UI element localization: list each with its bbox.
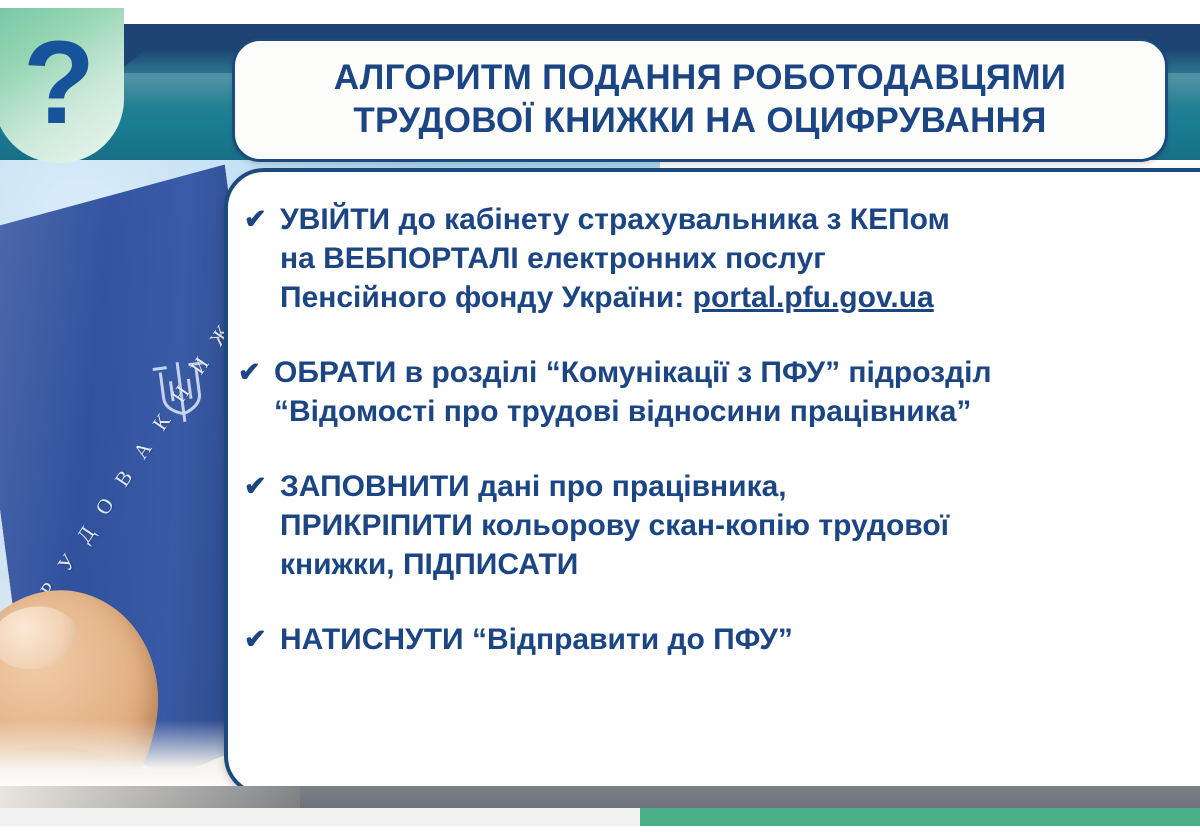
header-band-arrow [120,24,178,70]
question-mark-icon: ? [23,24,95,142]
page-title: АЛГОРИТМ ПОДАННЯ РОБОТОДАВЦЯМИ ТРУДОВОЇ … [334,57,1066,142]
check-icon: ✔ [244,622,267,657]
footer-white-base [0,826,1200,840]
footer-grey-bar-left [0,786,300,808]
infographic-canvas: Т Р У Д О В А К Н И Ж К А ? АЛГОРИТМ ПОД… [0,0,1200,840]
check-icon: ✔ [238,355,261,390]
step-text: ОБРАТИ в розділі “Комунікації з ПФУ” під… [274,353,1200,431]
check-icon: ✔ [244,202,267,237]
portal-link[interactable]: portal.pfu.gov.ua [693,281,934,314]
list-item: ✔ ЗАПОВНИТИ дані про працівника, ПРИКРІП… [240,467,1200,584]
check-icon: ✔ [244,469,267,504]
list-item: ✔ НАТИСНУТИ “Відправити до ПФУ” [240,620,1200,659]
step-text: НАТИСНУТИ “Відправити до ПФУ” [280,620,1200,659]
step-text: УВІЙТИ до кабінету страхувальника з КЕПо… [280,200,1200,317]
question-badge: ? [0,8,124,163]
steps-list: ✔ УВІЙТИ до кабінету страхувальника з КЕ… [240,200,1200,695]
list-item: ✔ УВІЙТИ до кабінету страхувальника з КЕ… [240,200,1200,317]
step-text: ЗАПОВНИТИ дані про працівника, ПРИКРІПИТ… [280,467,1200,584]
list-item: ✔ ОБРАТИ в розділі “Комунікації з ПФУ” п… [234,353,1200,431]
footer-green-bar [640,808,1200,826]
title-pill: АЛГОРИТМ ПОДАННЯ РОБОТОДАВЦЯМИ ТРУДОВОЇ … [232,38,1168,162]
thumb-nail [0,601,81,674]
